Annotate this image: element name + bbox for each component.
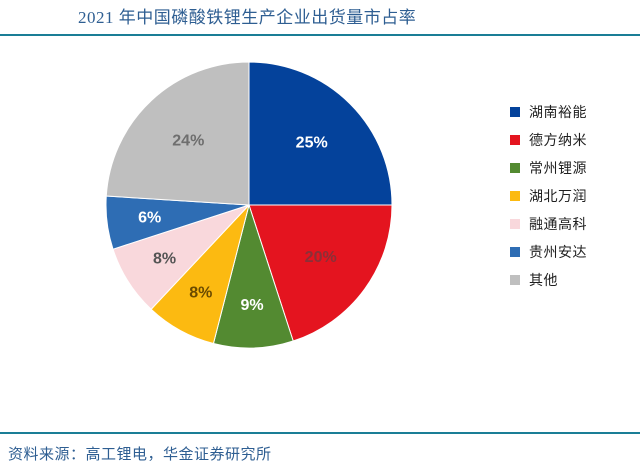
legend-swatch-icon — [510, 163, 520, 173]
source-note: 资料来源：高工锂电，华金证券研究所 — [8, 443, 272, 464]
legend-swatch-icon — [510, 247, 520, 257]
legend-swatch-icon — [510, 135, 520, 145]
legend-item[interactable]: 湖南裕能 — [510, 98, 635, 126]
pie-chart: 25%20%9%8%8%6%24% — [104, 60, 394, 350]
legend-item[interactable]: 常州锂源 — [510, 154, 635, 182]
title-divider — [0, 34, 640, 36]
pie-slice-label: 9% — [241, 297, 264, 314]
legend-item-label: 其他 — [529, 270, 558, 290]
pie-slice-label: 6% — [138, 210, 161, 227]
pie-slice-label: 8% — [153, 251, 176, 268]
footer-divider — [0, 432, 640, 434]
legend-item[interactable]: 其他 — [510, 266, 635, 294]
legend-item-label: 常州锂源 — [529, 158, 587, 178]
legend-item-label: 德方纳米 — [529, 130, 587, 150]
legend-item[interactable]: 湖北万润 — [510, 182, 635, 210]
chart-figure: 2021 年中国磷酸铁锂生产企业出货量市占率 25%20%9%8%8%6%24%… — [0, 0, 640, 472]
chart-legend: 湖南裕能德方纳米常州锂源湖北万润融通高科贵州安达其他 — [510, 98, 635, 294]
pie-slice-label: 8% — [189, 285, 212, 302]
legend-item[interactable]: 德方纳米 — [510, 126, 635, 154]
legend-swatch-icon — [510, 219, 520, 229]
legend-item[interactable]: 融通高科 — [510, 210, 635, 238]
legend-swatch-icon — [510, 107, 520, 117]
legend-swatch-icon — [510, 275, 520, 285]
page-title: 2021 年中国磷酸铁锂生产企业出货量市占率 — [78, 6, 416, 30]
legend-item[interactable]: 贵州安达 — [510, 238, 635, 266]
legend-swatch-icon — [510, 191, 520, 201]
legend-item-label: 融通高科 — [529, 214, 587, 234]
legend-item-label: 贵州安达 — [529, 242, 587, 262]
legend-item-label: 湖北万润 — [529, 186, 587, 206]
pie-slice-label: 24% — [172, 132, 204, 149]
pie-slice-label: 25% — [296, 134, 328, 151]
legend-item-label: 湖南裕能 — [529, 102, 587, 122]
pie-slice-label: 20% — [305, 249, 337, 266]
